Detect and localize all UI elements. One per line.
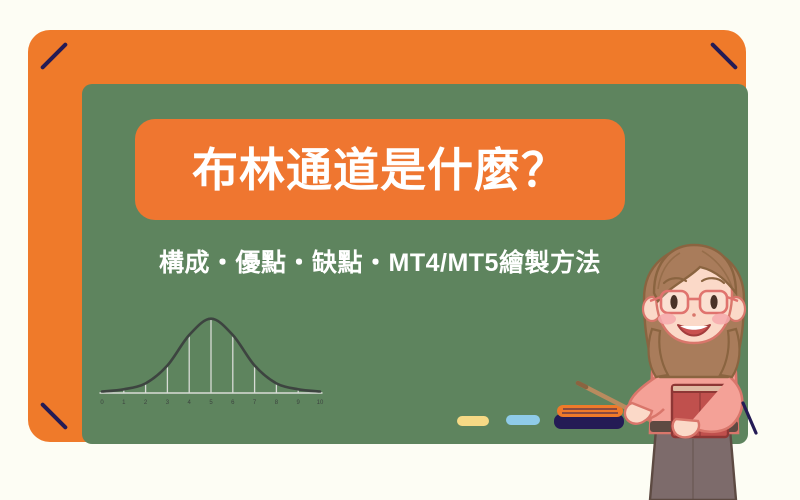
left-eye [670,295,677,309]
right-eye [710,295,717,309]
chart-tick-label: 6 [231,400,235,406]
chart-tick-label: 9 [297,400,301,406]
pen-icon [743,403,756,433]
thumbnail-canvas: 布林通道是什麼？ 構成・優點・缺點・MT4/MT5繪製方法 0123456789… [0,0,800,500]
page-title: 布林通道是什麼？ [192,147,568,193]
chart-tick-labels: 012345678910 [100,400,324,406]
nose [692,313,696,317]
chart-tick-label: 2 [144,400,148,406]
chart-tick-label: 4 [188,400,192,406]
chart-tick-label: 8 [275,400,279,406]
bell-curve-chart: 012345678910 [96,305,326,410]
chart-tick-label: 5 [209,400,213,406]
chart-tick-label: 10 [317,400,324,406]
chart-tick-label: 7 [253,400,257,406]
chart-tick-label: 0 [100,400,104,406]
left-cheek [658,314,676,325]
teacher-character [560,243,800,500]
yellow-chalk [457,416,489,426]
chart-tick-label: 3 [166,400,170,406]
right-hand [673,419,699,437]
chart-tick-label: 1 [122,400,126,406]
title-badge: 布林通道是什麼？ [135,119,625,220]
blue-chalk [506,415,540,425]
right-cheek [712,314,730,325]
